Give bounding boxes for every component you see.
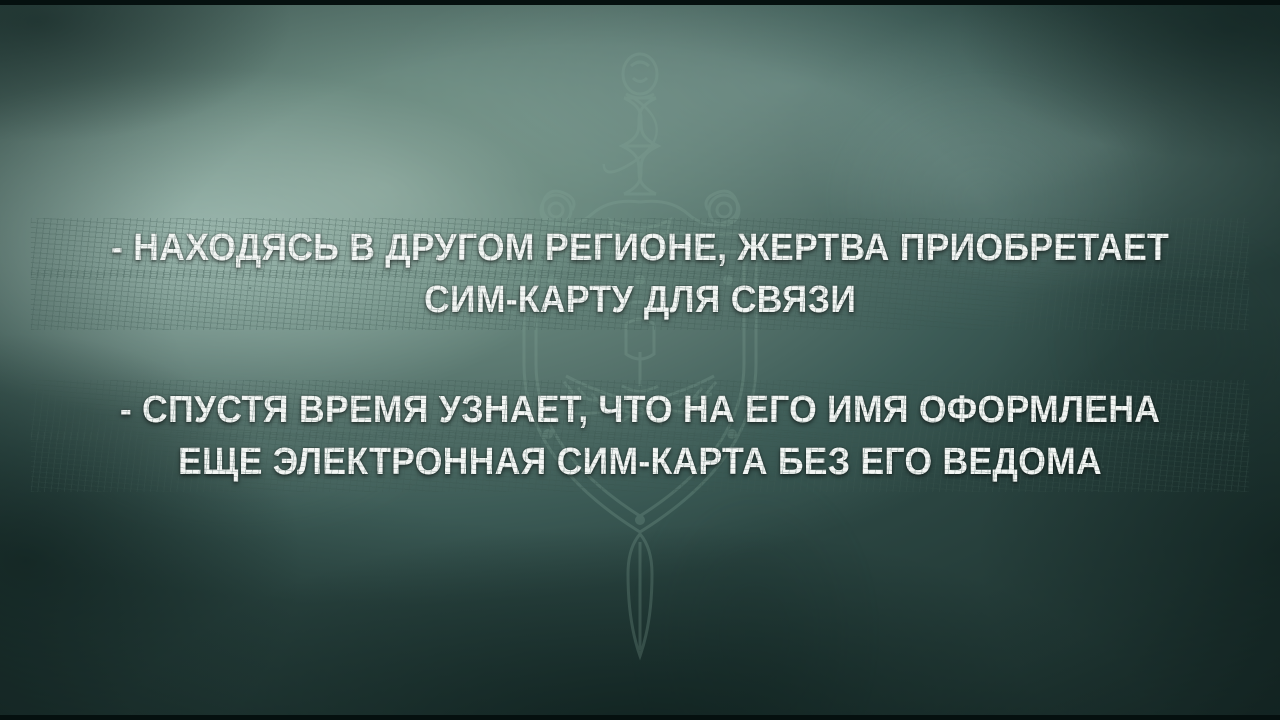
caption-line-2: СИМ-КАРТУ ДЛЯ СВЯЗИ [38,274,1241,326]
letterbox-bar-bottom [0,715,1280,720]
caption-block-2: - СПУСТЯ ВРЕМЯ УЗНАЕТ, ЧТО НА ЕГО ИМЯ ОФ… [0,384,1280,488]
caption-line-3: - СПУСТЯ ВРЕМЯ УЗНАЕТ, ЧТО НА ЕГО ИМЯ ОФ… [38,384,1241,436]
caption-block-1: - НАХОДЯСЬ В ДРУГОМ РЕГИОНЕ, ЖЕРТВА ПРИО… [0,222,1280,326]
caption-overlay: - НАХОДЯСЬ В ДРУГОМ РЕГИОНЕ, ЖЕРТВА ПРИО… [0,222,1280,488]
caption-line-4: ЕЩЕ ЭЛЕКТРОННАЯ СИМ-КАРТА БЕЗ ЕГО ВЕДОМА [38,436,1241,488]
video-frame: - НАХОДЯСЬ В ДРУГОМ РЕГИОНЕ, ЖЕРТВА ПРИО… [0,0,1280,720]
caption-line-1: - НАХОДЯСЬ В ДРУГОМ РЕГИОНЕ, ЖЕРТВА ПРИО… [38,222,1241,274]
letterbox-bar-top [0,0,1280,5]
